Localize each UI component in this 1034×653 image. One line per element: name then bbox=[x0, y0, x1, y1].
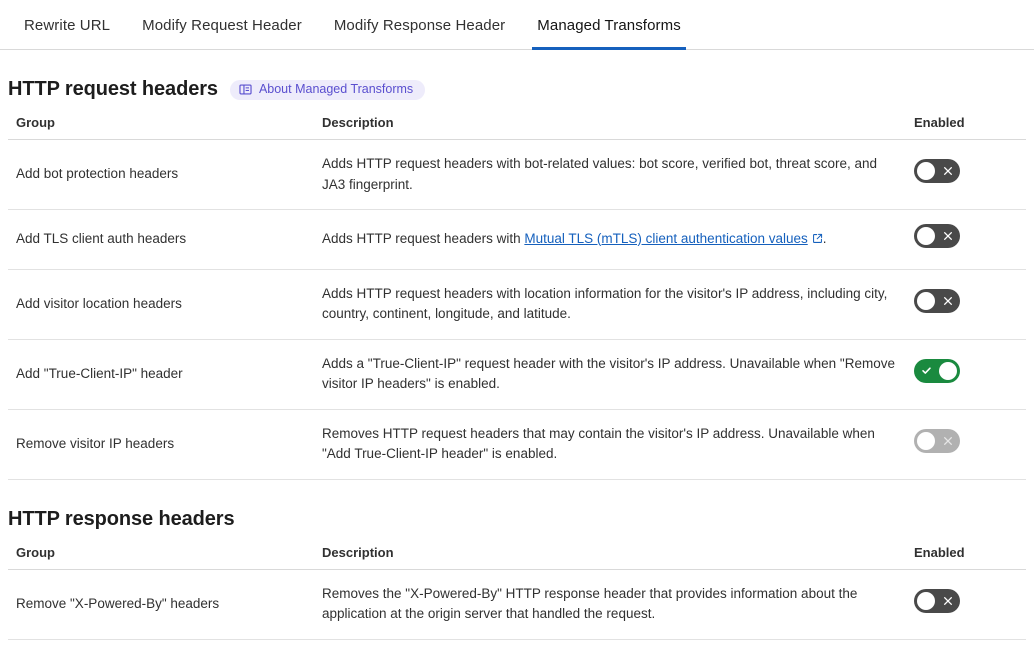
table-row: Add bot protection headers Adds HTTP req… bbox=[8, 140, 1026, 210]
description-prefix: Adds HTTP request headers with bbox=[322, 231, 524, 246]
table-row: Add security headers Adds several securi… bbox=[8, 639, 1026, 653]
table-header-row: Group Description Enabled bbox=[8, 115, 1026, 140]
column-header-group: Group bbox=[8, 115, 314, 140]
toggle-knob bbox=[917, 162, 935, 180]
toggle-knob bbox=[939, 362, 957, 380]
toggle-add-true-client-ip-header[interactable] bbox=[914, 359, 960, 383]
row-enabled-cell bbox=[906, 210, 1026, 270]
close-icon bbox=[937, 589, 959, 613]
tab-rewrite-url[interactable]: Rewrite URL bbox=[8, 0, 126, 50]
tab-modify-request-header[interactable]: Modify Request Header bbox=[126, 0, 318, 50]
row-group-name: Add "True-Client-IP" header bbox=[8, 339, 314, 409]
http-request-headers-section: HTTP request headers About Managed Trans… bbox=[0, 50, 1034, 480]
row-description: Removes the "X-Powered-By" HTTP response… bbox=[314, 569, 906, 639]
http-response-headers-section: HTTP response headers Group Description … bbox=[0, 480, 1034, 653]
toggle-add-visitor-location-headers[interactable] bbox=[914, 289, 960, 313]
response-headers-table: Group Description Enabled Remove "X-Powe… bbox=[8, 545, 1026, 653]
tab-label: Modify Request Header bbox=[142, 17, 302, 34]
column-header-enabled: Enabled bbox=[906, 115, 1026, 140]
row-group-name: Add bot protection headers bbox=[8, 140, 314, 210]
table-row: Remove visitor IP headers Removes HTTP r… bbox=[8, 409, 1026, 479]
tab-modify-response-header[interactable]: Modify Response Header bbox=[318, 0, 521, 50]
description-suffix: . bbox=[823, 231, 827, 246]
table-row: Add TLS client auth headers Adds HTTP re… bbox=[8, 210, 1026, 270]
row-description: Adds HTTP request headers with bot-relat… bbox=[314, 140, 906, 210]
tab-bar: Rewrite URL Modify Request Header Modify… bbox=[0, 0, 1034, 50]
row-group-name: Remove "X-Powered-By" headers bbox=[8, 569, 314, 639]
response-section-title: HTTP response headers bbox=[8, 508, 235, 531]
row-enabled-cell bbox=[906, 639, 1026, 653]
toggle-knob bbox=[917, 592, 935, 610]
toggle-knob bbox=[917, 432, 935, 450]
row-group-name: Add visitor location headers bbox=[8, 269, 314, 339]
column-header-description: Description bbox=[314, 115, 906, 140]
response-section-header: HTTP response headers bbox=[8, 480, 1026, 545]
toggle-knob bbox=[917, 227, 935, 245]
tab-label: Rewrite URL bbox=[24, 17, 110, 34]
book-icon bbox=[239, 83, 252, 96]
tab-label: Managed Transforms bbox=[537, 17, 681, 34]
row-enabled-cell bbox=[906, 339, 1026, 409]
row-enabled-cell bbox=[906, 140, 1026, 210]
about-managed-transforms-badge[interactable]: About Managed Transforms bbox=[230, 80, 425, 100]
row-description: Adds HTTP request headers with Mutual TL… bbox=[314, 210, 906, 270]
toggle-remove-visitor-ip-headers bbox=[914, 429, 960, 453]
badge-label: About Managed Transforms bbox=[259, 83, 413, 96]
close-icon bbox=[937, 224, 959, 248]
table-header-row: Group Description Enabled bbox=[8, 545, 1026, 570]
table-row: Add "True-Client-IP" header Adds a "True… bbox=[8, 339, 1026, 409]
check-icon bbox=[915, 359, 937, 383]
external-link-icon[interactable] bbox=[812, 230, 823, 251]
table-row: Add visitor location headers Adds HTTP r… bbox=[8, 269, 1026, 339]
close-icon bbox=[937, 159, 959, 183]
column-header-group: Group bbox=[8, 545, 314, 570]
toggle-knob bbox=[917, 292, 935, 310]
row-group-name: Remove visitor IP headers bbox=[8, 409, 314, 479]
close-icon bbox=[937, 429, 959, 453]
row-enabled-cell bbox=[906, 409, 1026, 479]
tab-managed-transforms[interactable]: Managed Transforms bbox=[521, 0, 697, 50]
tab-label: Modify Response Header bbox=[334, 17, 505, 34]
table-row: Remove "X-Powered-By" headers Removes th… bbox=[8, 569, 1026, 639]
mtls-documentation-link[interactable]: Mutual TLS (mTLS) client authentication … bbox=[524, 231, 807, 246]
row-description: Adds a "True-Client-IP" request header w… bbox=[314, 339, 906, 409]
toggle-add-bot-protection-headers[interactable] bbox=[914, 159, 960, 183]
column-header-enabled: Enabled bbox=[906, 545, 1026, 570]
toggle-remove-x-powered-by-headers[interactable] bbox=[914, 589, 960, 613]
row-description: Adds several security-related HTTP respo… bbox=[314, 639, 906, 653]
row-group-name: Add security headers bbox=[8, 639, 314, 653]
toggle-add-tls-client-auth-headers[interactable] bbox=[914, 224, 960, 248]
row-group-name: Add TLS client auth headers bbox=[8, 210, 314, 270]
page-title: HTTP request headers bbox=[8, 78, 218, 101]
request-headers-table: Group Description Enabled Add bot protec… bbox=[8, 115, 1026, 480]
request-section-header: HTTP request headers About Managed Trans… bbox=[8, 50, 1026, 115]
close-icon bbox=[937, 289, 959, 313]
row-description: Removes HTTP request headers that may co… bbox=[314, 409, 906, 479]
row-description: Adds HTTP request headers with location … bbox=[314, 269, 906, 339]
row-enabled-cell bbox=[906, 569, 1026, 639]
column-header-description: Description bbox=[314, 545, 906, 570]
row-enabled-cell bbox=[906, 269, 1026, 339]
